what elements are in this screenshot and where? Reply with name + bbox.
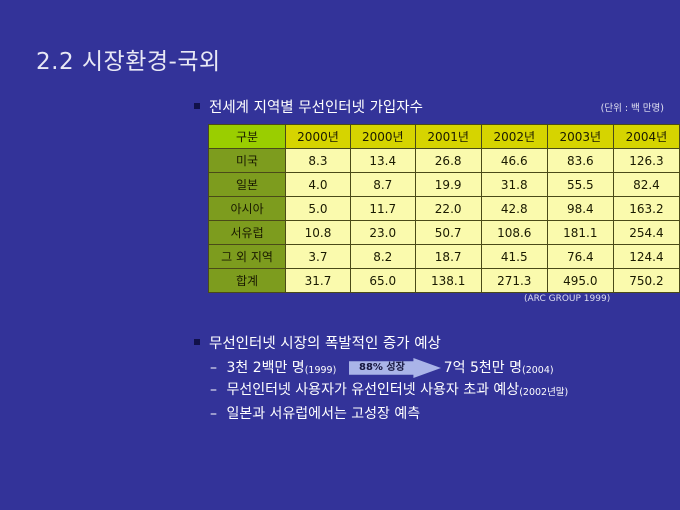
table-cell: 18.7: [415, 245, 481, 269]
table-cell: 46.6: [481, 149, 547, 173]
bottom-sub-line-suffix: (2002년말): [519, 387, 568, 398]
growth-from-year: (1999): [305, 365, 337, 376]
table-cell: 163.2: [613, 197, 679, 221]
table-cell: 254.4: [613, 221, 679, 245]
table-cell: 271.3: [481, 269, 547, 293]
table-row-label: 일본: [209, 173, 286, 197]
table-cell: 42.8: [481, 197, 547, 221]
growth-to-year: (2004): [522, 365, 554, 376]
table-cell: 126.3: [613, 149, 679, 173]
subscribers-table: 구분 2000년 2000년 2001년 2002년 2003년 2004년 미…: [208, 124, 680, 293]
square-bullet-icon: [194, 339, 200, 345]
growth-line: – 3천 2백만 명(1999) 7억 5천만 명(2004) 88% 성장: [210, 357, 664, 379]
table-header-row: 구분 2000년 2000년 2001년 2002년 2003년 2004년: [209, 125, 680, 149]
table-cell: 23.0: [350, 221, 415, 245]
bottom-bullet-heading: 무선인터넷 시장의 폭발적인 증가 예상: [209, 332, 441, 353]
table-cell: 181.1: [547, 221, 613, 245]
table-cell: 65.0: [350, 269, 415, 293]
table-cell: 138.1: [415, 269, 481, 293]
table-cell: 55.5: [547, 173, 613, 197]
table-cell: 8.3: [286, 149, 351, 173]
table-row-label: 미국: [209, 149, 286, 173]
growth-badge-label: 88% 성장: [359, 357, 405, 379]
table-cell: 31.7: [286, 269, 351, 293]
dash-marker: –: [210, 357, 222, 379]
table-header-cell: 2004년: [613, 125, 679, 149]
table-cell: 8.2: [350, 245, 415, 269]
table-cell: 10.8: [286, 221, 351, 245]
bottom-bullet-heading-row: 무선인터넷 시장의 폭발적인 증가 예상: [194, 332, 664, 353]
table-cell: 108.6: [481, 221, 547, 245]
table-cell: 22.0: [415, 197, 481, 221]
table-row: 아시아 5.0 11.7 22.0 42.8 98.4 163.2: [209, 197, 680, 221]
table-cell: 83.6: [547, 149, 613, 173]
table-row: 그 외 지역 3.7 8.2 18.7 41.5 76.4 124.4: [209, 245, 680, 269]
subtitle-text: 전세계 지역별 무선인터넷 가입자수: [209, 96, 423, 117]
table-cell: 31.8: [481, 173, 547, 197]
table-cell: 750.2: [613, 269, 679, 293]
page-title: 2.2 시장환경-국외: [36, 42, 221, 76]
subtitle-row: 전세계 지역별 무선인터넷 가입자수 (단위 : 백 만명): [194, 96, 664, 117]
bottom-sub-line-text: 일본과 서유럽에서는 고성장 예측: [226, 406, 420, 422]
table-cell: 8.7: [350, 173, 415, 197]
table-header-cell: 구분: [209, 125, 286, 149]
growth-arrow-badge: 88% 성장: [349, 358, 441, 378]
table-header-cell: 2000년: [350, 125, 415, 149]
table-header-cell: 2000년: [286, 125, 351, 149]
table-cell: 82.4: [613, 173, 679, 197]
table-row-label: 합계: [209, 269, 286, 293]
table-header-cell: 2002년: [481, 125, 547, 149]
bottom-sub-line-text: 무선인터넷 사용자가 유선인터넷 사용자 초과 예상: [226, 382, 519, 398]
table-cell: 11.7: [350, 197, 415, 221]
dash-marker: –: [210, 379, 222, 401]
table-cell: 3.7: [286, 245, 351, 269]
table-row: 미국 8.3 13.4 26.8 46.6 83.6 126.3: [209, 149, 680, 173]
table-row-label: 그 외 지역: [209, 245, 286, 269]
table-cell: 13.4: [350, 149, 415, 173]
table-cell: 124.4: [613, 245, 679, 269]
growth-to-value: 7억 5천만 명: [444, 357, 522, 379]
table-header-cell: 2001년: [415, 125, 481, 149]
table-row: 서유럽 10.8 23.0 50.7 108.6 181.1 254.4: [209, 221, 680, 245]
table-row-label: 아시아: [209, 197, 286, 221]
table-header-cell: 2003년: [547, 125, 613, 149]
table-cell: 495.0: [547, 269, 613, 293]
unit-note: (단위 : 백 만명): [601, 100, 664, 114]
table-cell: 50.7: [415, 221, 481, 245]
table-cell: 5.0: [286, 197, 351, 221]
bottom-bullet-block: 무선인터넷 시장의 폭발적인 증가 예상 – 3천 2백만 명(1999) 7억…: [194, 332, 664, 425]
bottom-sub-line: – 무선인터넷 사용자가 유선인터넷 사용자 초과 예상(2002년말): [210, 379, 664, 403]
table-row-label: 서유럽: [209, 221, 286, 245]
table-cell: 26.8: [415, 149, 481, 173]
table-cell: 76.4: [547, 245, 613, 269]
table-cell: 98.4: [547, 197, 613, 221]
bottom-sub-line: – 일본과 서유럽에서는 고성장 예측: [210, 403, 664, 425]
table-row: 합계 31.7 65.0 138.1 271.3 495.0 750.2: [209, 269, 680, 293]
dash-marker: –: [210, 403, 222, 425]
table-cell: 4.0: [286, 173, 351, 197]
subscribers-table-wrapper: 구분 2000년 2000년 2001년 2002년 2003년 2004년 미…: [208, 124, 680, 293]
square-bullet-icon: [194, 103, 200, 109]
table-cell: 41.5: [481, 245, 547, 269]
growth-from-value: 3천 2백만 명: [226, 360, 304, 376]
table-row: 일본 4.0 8.7 19.9 31.8 55.5 82.4: [209, 173, 680, 197]
table-source-note: (ARC GROUP 1999): [524, 294, 610, 304]
table-cell: 19.9: [415, 173, 481, 197]
